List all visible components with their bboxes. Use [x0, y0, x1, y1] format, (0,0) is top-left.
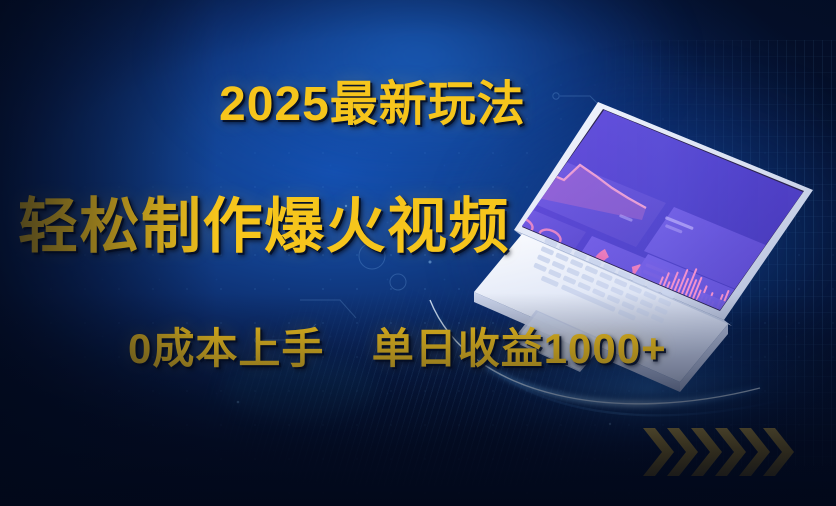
background-vignette	[0, 0, 836, 506]
poster-canvas: 60%	[0, 0, 836, 506]
